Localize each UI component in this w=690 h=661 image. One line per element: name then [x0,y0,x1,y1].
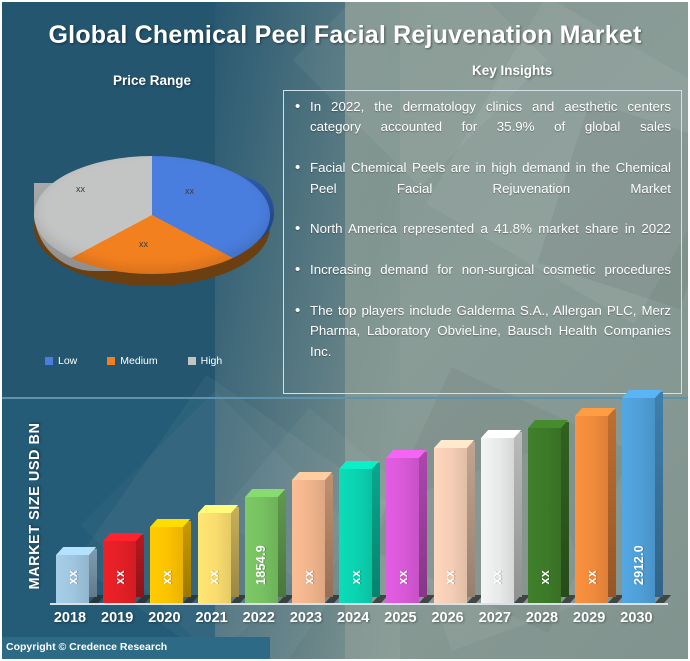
key-insight-text: North America represented a 41.8% market… [310,221,671,236]
bar-value-text: 2912.0 [632,545,646,585]
bar-value-label: xx [292,570,325,585]
key-insight-text: Facial Chemical Peels are in high demand… [310,160,671,195]
bar-value-label: xx [198,570,231,585]
bar-2023: xx [292,480,325,603]
bar-2022: 1854.9 [245,497,278,603]
bar-value-label: xx [434,570,467,585]
bar-value-label: xx [481,570,514,585]
bar-side-face [561,422,569,597]
bar-side-face [231,507,239,597]
legend-swatch-low-icon [45,357,53,365]
bar-2027: xx [481,438,514,603]
key-insight-item: •Facial Chemical Peels are in high deman… [290,158,671,219]
bullet-icon: • [295,260,300,280]
bar-value-label: xx [339,570,372,585]
x-axis-label-2022: 2022 [235,610,283,626]
x-axis-label-2027: 2027 [471,610,519,626]
x-axis-label-2019: 2019 [93,610,141,626]
bar-value-label: xx [150,570,183,585]
bar-top-face [245,489,285,497]
key-insight-item: •In 2022, the dermatology clinics and ae… [290,97,671,158]
x-axis-label-2018: 2018 [46,610,94,626]
bar-side-face [89,549,97,597]
bar-2026: xx [434,448,467,603]
bar-2019: xx [103,541,136,603]
bar-side-face [514,432,522,597]
key-insight-item: •North America represented a 41.8% marke… [290,219,671,260]
x-axis-label-2028: 2028 [518,610,566,626]
bar-2020: xx [150,527,183,603]
bar-value-text: xx [443,570,457,585]
pie-legend: Low Medium High [45,352,285,370]
bar-value-text: 1854.9 [254,545,268,585]
key-insight-item: •Increasing demand for non-surgical cosm… [290,260,671,301]
x-axis-label-2026: 2026 [424,610,472,626]
market-size-bar-chart: MARKET SIZE USD BN xxxxxxxx1854.9xxxxxxx… [0,400,690,635]
legend-label-low: Low [58,355,77,367]
pie-surface [34,156,270,274]
x-axis-label-2029: 2029 [565,610,613,626]
bar-value-text: xx [160,570,174,585]
bar-side-face [608,410,616,597]
bar-value-text: xx [490,570,504,585]
bar-value-text: xx [349,570,363,585]
bar-2029: xx [575,416,608,603]
bar-chart-x-axis-labels: 2018201920202021202220232024202520262027… [50,610,670,632]
bar-front-face [150,527,183,603]
pie-slice-label-high: xx [76,184,85,194]
bullet-icon: • [295,158,300,178]
key-insight-item: •The top players include Galderma S.A., … [290,301,671,383]
infographic-root: Global Chemical Peel Facial Rejuvenation… [0,0,690,661]
bar-value-text: xx [207,570,221,585]
bar-value-label: xx [575,570,608,585]
bar-value-label: 2912.0 [622,545,655,585]
bar-top-face [434,440,474,448]
price-range-pie-chart: xx xx xx [22,128,282,288]
bar-chart-bars: xxxxxxxx1854.9xxxxxxxxxxxxxx2912.0 [56,400,676,605]
bullet-icon: • [295,301,300,321]
bar-value-text: xx [113,570,127,585]
x-axis-label-2020: 2020 [140,610,188,626]
bar-top-face [198,505,238,513]
footer: Copyright © Credence Research [0,637,690,661]
x-axis-label-2021: 2021 [188,610,236,626]
bar-top-face [481,430,521,438]
bar-value-text: xx [66,570,80,585]
bar-value-text: xx [538,570,552,585]
bar-side-face [278,491,286,597]
bullet-icon: • [295,219,300,239]
bar-side-face [183,521,191,597]
bar-value-label: xx [56,570,89,585]
legend-swatch-high-icon [188,357,196,365]
legend-label-medium: Medium [120,355,157,367]
bar-side-face [419,452,427,597]
bar-value-text: xx [302,570,316,585]
bar-2025: xx [386,458,419,603]
bar-value-label: xx [386,570,419,585]
bar-side-face [136,535,144,597]
page-title: Global Chemical Peel Facial Rejuvenation… [45,18,645,52]
x-axis-label-2024: 2024 [329,610,377,626]
key-insight-text: Increasing demand for non-surgical cosme… [310,262,671,277]
key-insight-text: The top players include Galderma S.A., A… [310,303,671,359]
bar-side-face [467,442,475,597]
price-range-section-label: Price Range [113,73,191,88]
copyright-text: Copyright © Credence Research [6,641,167,653]
bullet-icon: • [295,97,300,117]
x-axis-label-2025: 2025 [376,610,424,626]
bar-value-label: 1854.9 [245,545,278,585]
bar-chart-y-axis-label: MARKET SIZE USD BN [27,411,43,601]
bar-side-face [372,463,380,597]
x-axis-label-2030: 2030 [612,610,660,626]
bar-2018: xx [56,555,89,603]
bar-value-label: xx [103,570,136,585]
legend-item-medium: Medium [107,355,157,367]
pie-slice-label-low: xx [185,186,194,196]
bar-2028: xx [528,428,561,603]
bar-value-label: xx [528,570,561,585]
bar-side-face [325,474,333,597]
legend-item-low: Low [45,355,77,367]
bar-2024: xx [339,469,372,603]
pie-slice-label-medium: xx [139,239,148,249]
bar-side-face [655,392,663,597]
bar-value-text: xx [396,570,410,585]
bar-front-face [198,513,231,603]
legend-swatch-medium-icon [107,357,115,365]
x-axis-label-2023: 2023 [282,610,330,626]
legend-item-high: High [188,355,223,367]
key-insights-box: •In 2022, the dermatology clinics and ae… [283,90,682,394]
bar-2021: xx [198,513,231,603]
key-insights-section-label: Key Insights [472,63,552,78]
bar-value-text: xx [585,570,599,585]
key-insights-list: •In 2022, the dermatology clinics and ae… [290,97,671,383]
section-divider [0,397,690,399]
bar-2030: 2912.0 [622,398,655,603]
key-insight-text: In 2022, the dermatology clinics and aes… [310,99,671,134]
legend-label-high: High [201,355,223,367]
